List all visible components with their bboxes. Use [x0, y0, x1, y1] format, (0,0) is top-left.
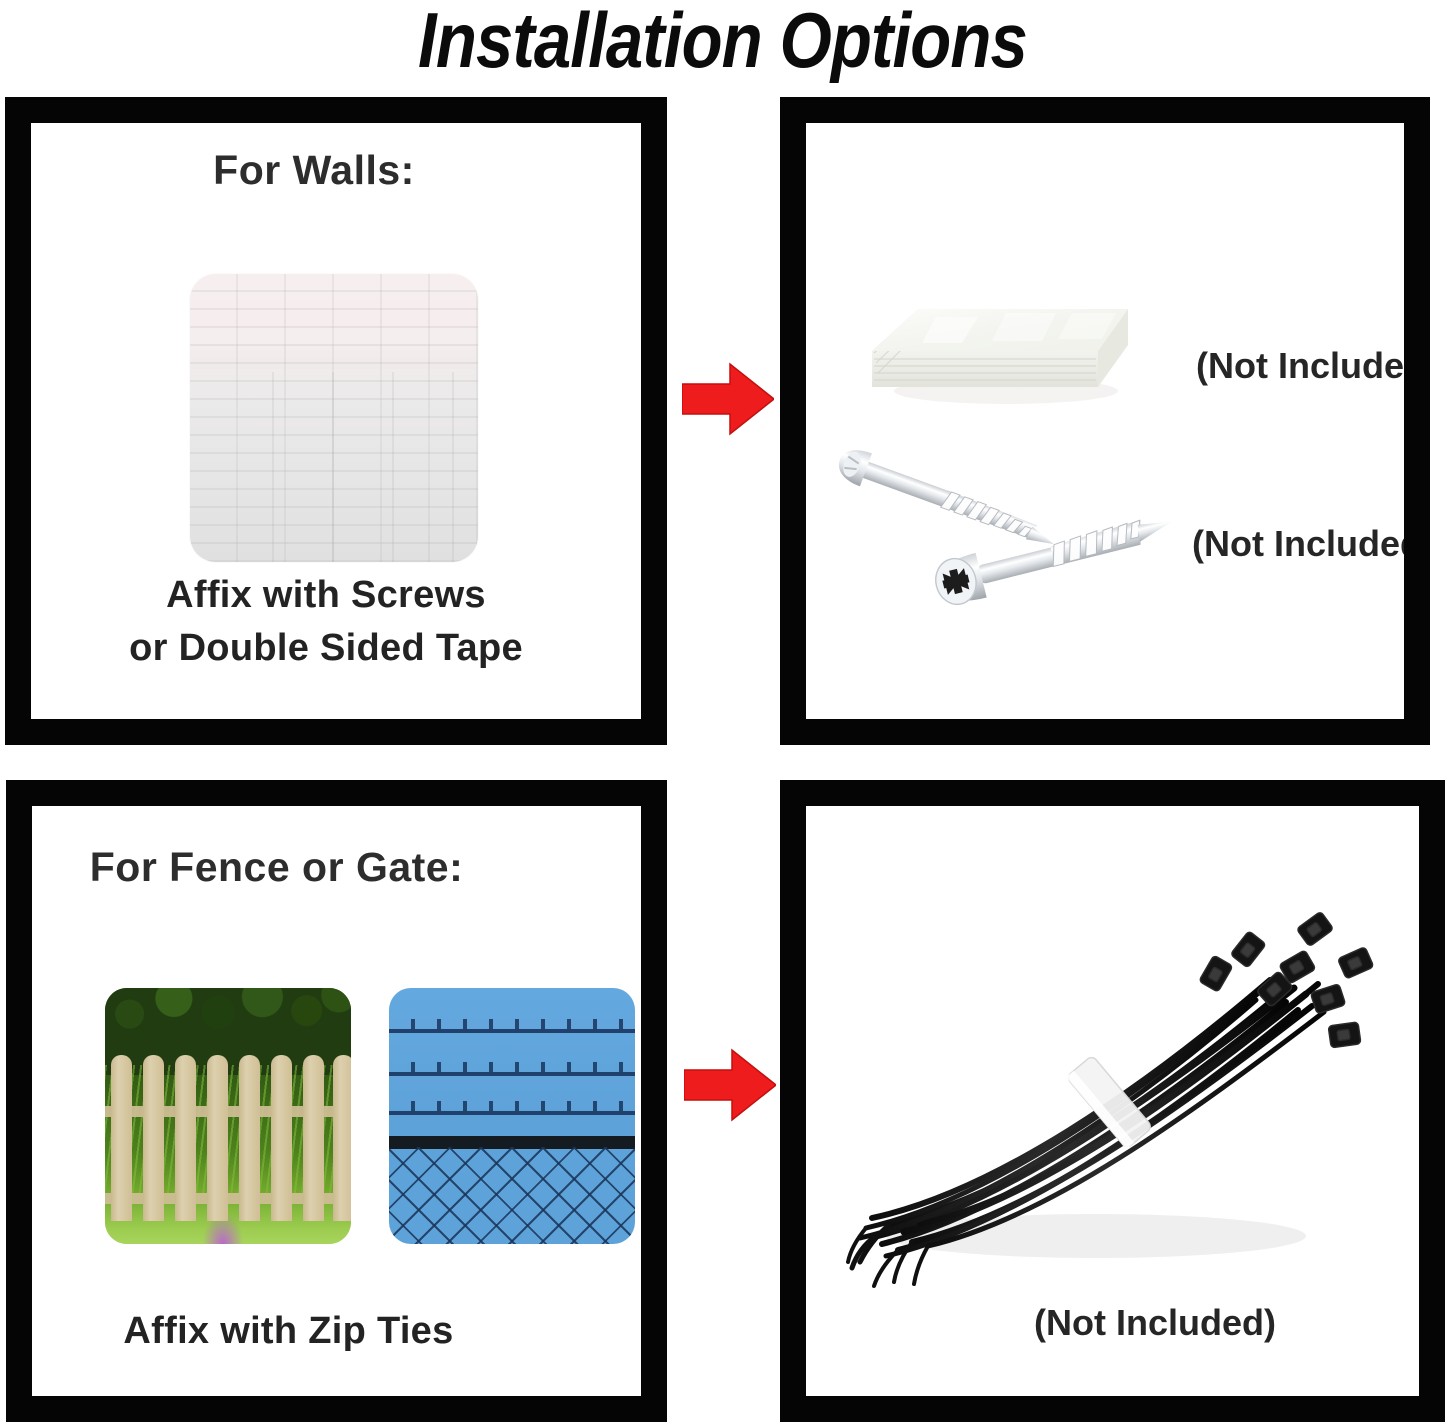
- panel-for-walls: For Walls: Affix with Screws or Double S…: [5, 97, 667, 745]
- for-walls-heading: For Walls:: [31, 147, 619, 194]
- panel-for-fence-or-gate-inner: For Fence or Gate:: [32, 806, 641, 1396]
- screws-icon: [832, 441, 1188, 621]
- for-fence-or-gate-heading: For Fence or Gate:: [32, 844, 581, 891]
- for-walls-caption-line-2: or Double Sided Tape: [31, 622, 631, 675]
- red-right-arrow-top: [682, 362, 774, 436]
- zip-ties-image: [846, 906, 1386, 1306]
- red-right-arrow-icon: [684, 1048, 776, 1122]
- barbed-wire-barbs: [389, 1019, 635, 1033]
- fence-picket: [271, 1055, 292, 1221]
- screws-image: [832, 441, 1188, 621]
- page-title: Installation Options: [101, 0, 1344, 86]
- panel-for-fence-or-gate: For Fence or Gate:: [6, 780, 667, 1422]
- panel-zip-ties: (Not Included): [780, 780, 1445, 1422]
- zip-tie-bundle-icon: [846, 906, 1386, 1306]
- chain-link-mesh: [389, 1147, 635, 1244]
- double-sided-tape-image: [866, 251, 1134, 413]
- fence-picket: [239, 1055, 260, 1221]
- red-right-arrow-icon: [682, 362, 774, 436]
- brick-wall-offset-courses: [214, 372, 478, 562]
- fence-picket: [111, 1055, 132, 1221]
- wooden-picket-fence-photo: [105, 988, 351, 1244]
- fence-picket: [175, 1055, 196, 1221]
- for-fence-caption: Affix with Zip Ties: [32, 1305, 593, 1358]
- fence-picket: [143, 1055, 164, 1221]
- for-walls-caption: Affix with Screws or Double Sided Tape: [31, 569, 631, 675]
- barbed-wire-barbs: [389, 1062, 635, 1076]
- panel-wall-hardware-inner: (Not Included): [806, 123, 1404, 719]
- fence-picket: [207, 1055, 228, 1221]
- white-brick-wall-image: [190, 274, 478, 562]
- tape-not-included-note: (Not Included): [1196, 345, 1404, 387]
- chain-link-barbed-wire-photo: [389, 988, 635, 1244]
- red-right-arrow-bottom: [684, 1048, 776, 1122]
- tape-stack-icon: [866, 251, 1134, 413]
- for-walls-caption-line-1: Affix with Screws: [31, 569, 631, 622]
- panel-wall-hardware: (Not Included): [780, 97, 1430, 745]
- fence-picket: [303, 1055, 324, 1221]
- screws-not-included-note: (Not Included): [1192, 523, 1404, 565]
- barbed-wire-barbs: [389, 1101, 635, 1115]
- zip-ties-not-included-note: (Not Included): [1034, 1302, 1276, 1344]
- panel-zip-ties-inner: (Not Included): [806, 806, 1419, 1396]
- fence-picket: [333, 1055, 351, 1221]
- panel-for-walls-inner: For Walls: Affix with Screws or Double S…: [31, 123, 641, 719]
